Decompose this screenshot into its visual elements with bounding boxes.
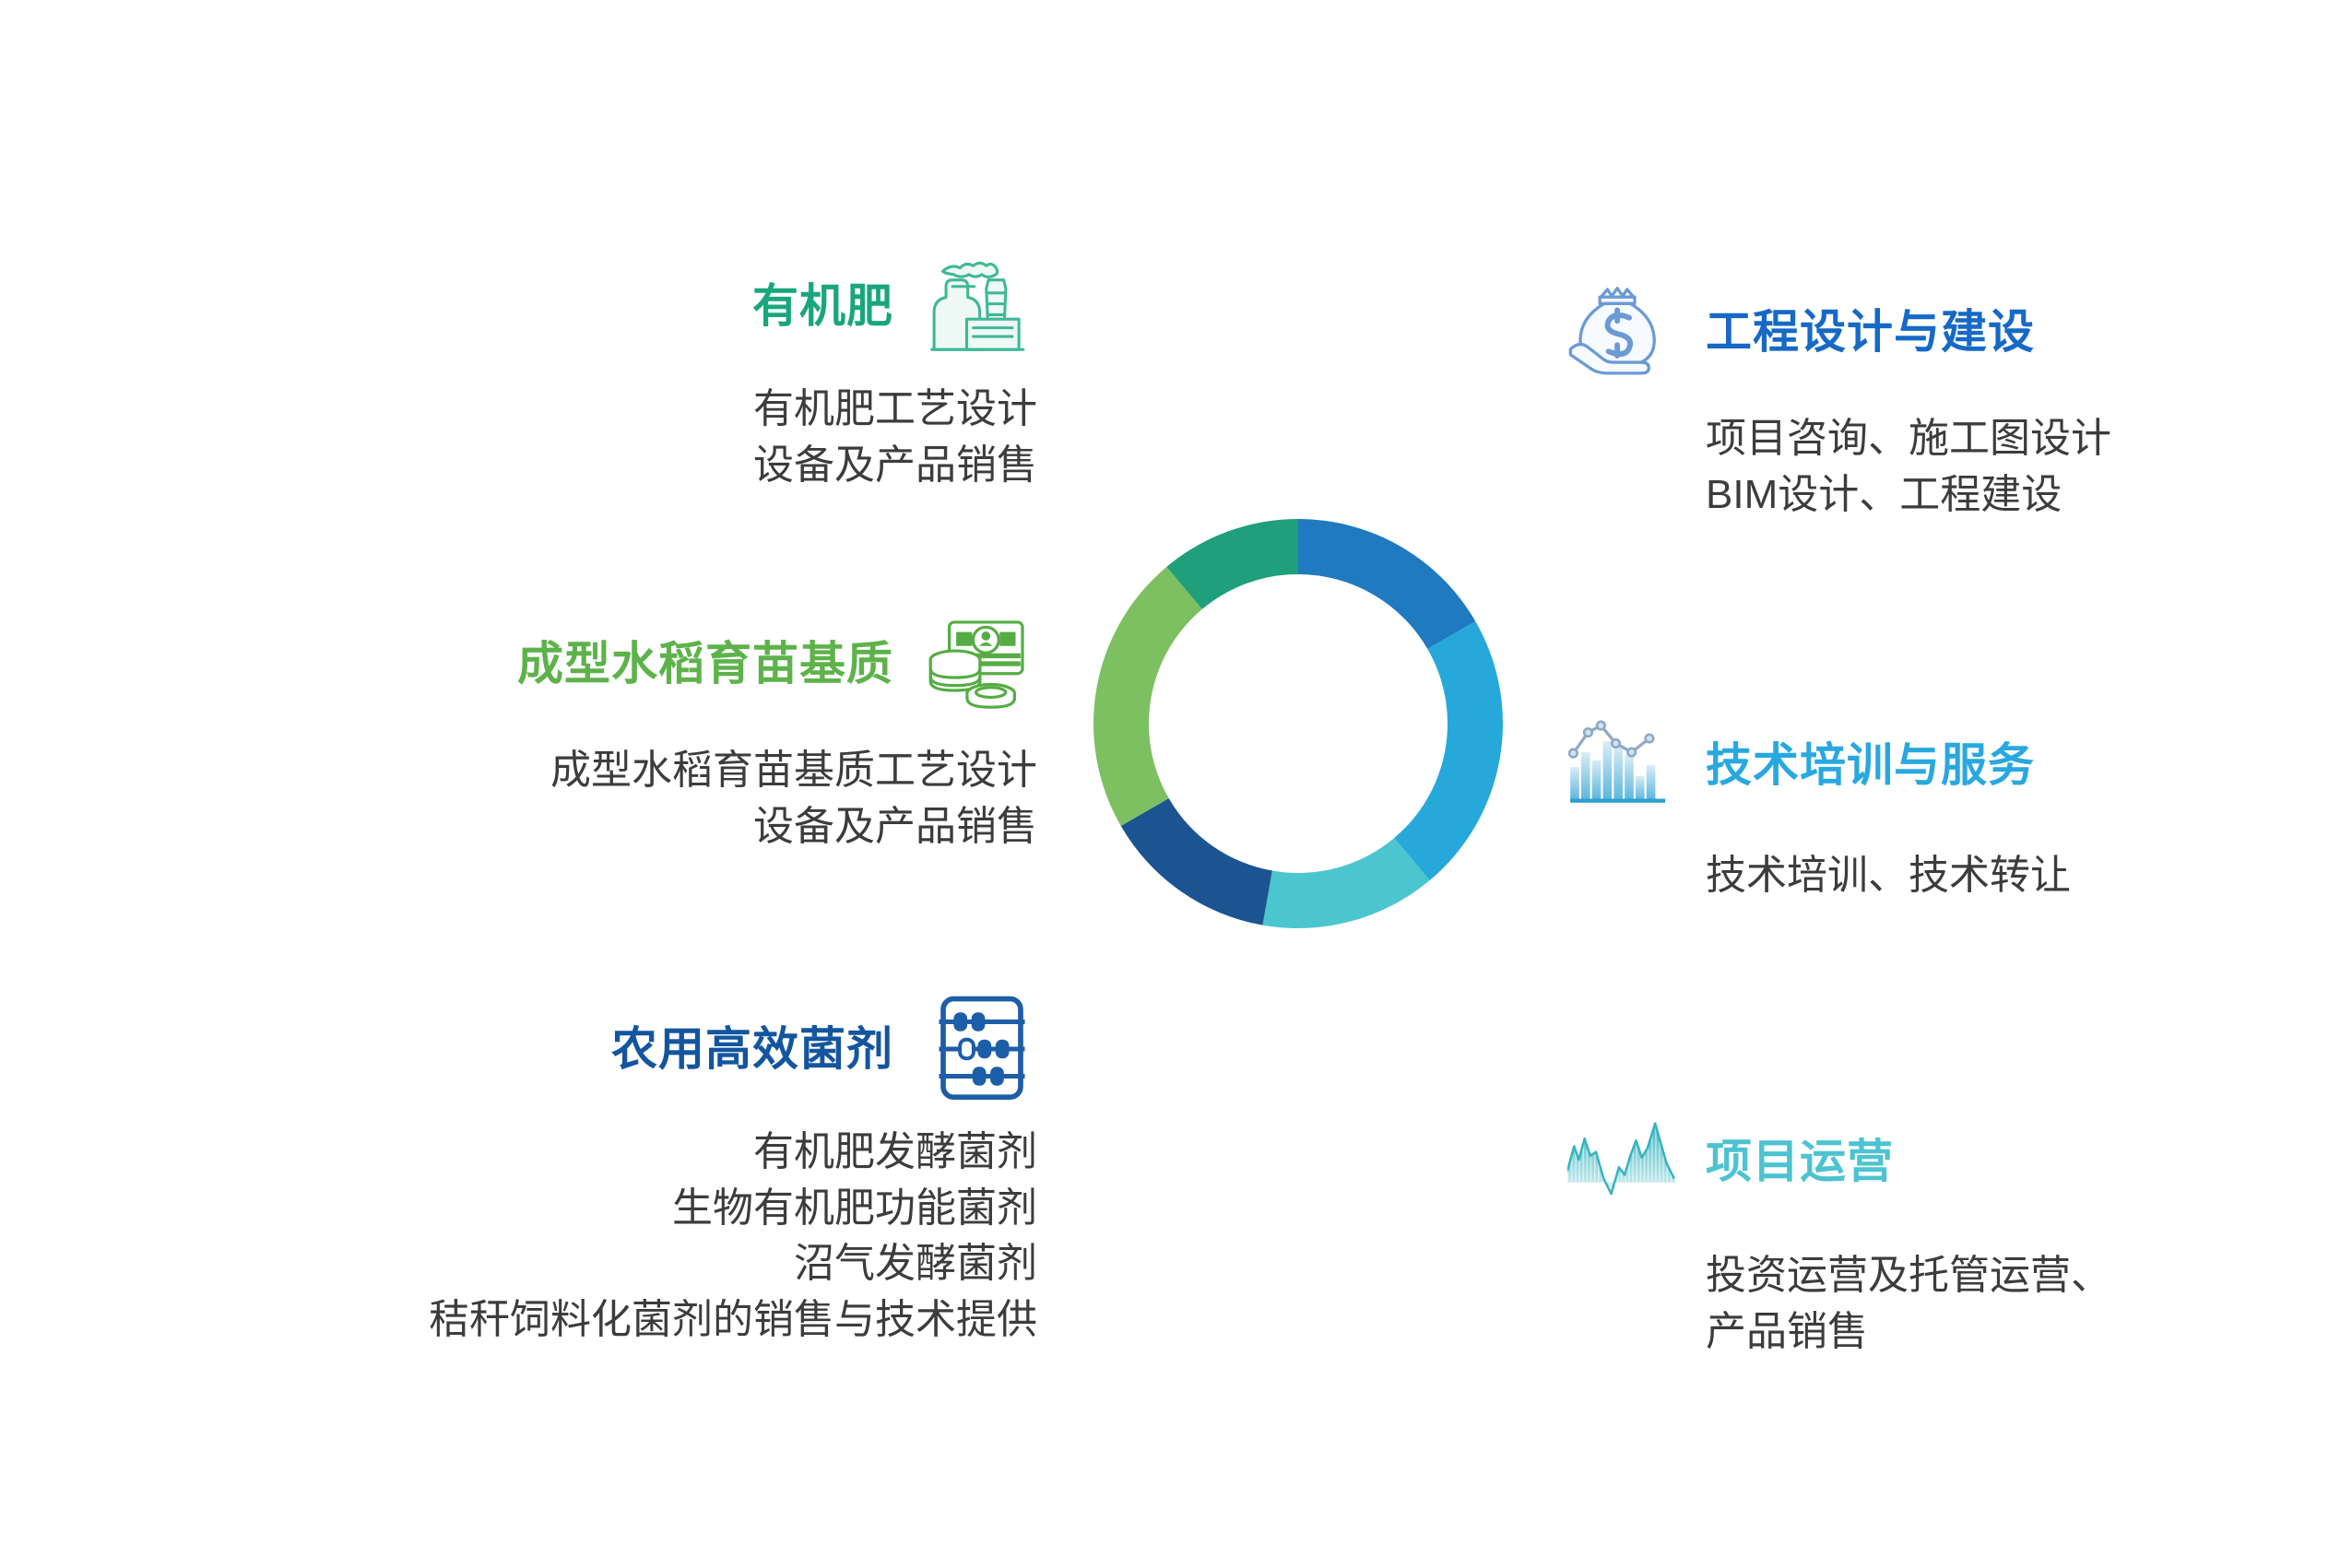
desc-line: 项目咨询、施工图设计: [1706, 411, 2352, 467]
right-item-technical-training-service[interactable]: 技术培训与服务 技术培训、技术转让: [1567, 710, 2352, 904]
item-description: 有机肥工艺设计 设备及产品销售: [0, 382, 1037, 493]
item-header: 农用高效菌剂: [0, 994, 1037, 1104]
item-title: 成型水稻育苗基质: [517, 641, 893, 687]
desc-line: 生物有机肥功能菌剂: [0, 1181, 1037, 1237]
factory-icon: [927, 251, 1037, 361]
item-description: 项目咨询、施工图设计 BIM设计、工程建设: [1706, 411, 2352, 523]
item-description: 有机肥发酵菌剂 生物有机肥功能菌剂 沼气发酵菌剂 秸秆饲料化菌剂的销售与技术提供: [0, 1125, 1037, 1349]
right-item-project-operation[interactable]: 项目运营 投资运营及托管运营、 产品销售: [1567, 1106, 2352, 1360]
donut-segment: [1298, 519, 1475, 649]
item-header: 成型水稻育苗基质: [0, 608, 1037, 719]
left-item-rice-seedling-substrate[interactable]: 成型水稻育苗基质: [0, 608, 1037, 855]
left-item-organic-fertilizer[interactable]: 有机肥 有机肥工艺设计: [0, 251, 1037, 493]
abacus-icon: [927, 994, 1037, 1104]
desc-line: 成型水稻育苗基质工艺设计: [0, 743, 1037, 799]
desc-line: 设备及产品销售: [0, 438, 1037, 494]
item-header: 项目运营: [1567, 1106, 2352, 1217]
money-bag-hand-icon: [1567, 277, 1678, 387]
desc-line: 设备及产品销售: [0, 799, 1037, 855]
item-title: 技术培训与服务: [1706, 742, 2035, 788]
services-donut-chart: [1086, 512, 1510, 936]
item-title: 农用高效菌剂: [611, 1026, 893, 1072]
desc-line: 技术培训、技术转让: [1706, 848, 2352, 904]
donut-svg: [1086, 512, 1510, 936]
desc-line: 有机肥工艺设计: [0, 382, 1037, 438]
item-description: 投资运营及托管运营、 产品销售: [1706, 1248, 2352, 1360]
mountain-area-chart-icon: [1567, 1106, 1678, 1217]
donut-segment: [1093, 567, 1202, 826]
item-description: 成型水稻育苗基质工艺设计 设备及产品销售: [0, 743, 1037, 855]
donut-segment: [1394, 621, 1503, 880]
item-header: 工程设计与建设: [1567, 277, 2352, 387]
donut-segment: [1262, 838, 1429, 928]
left-item-agricultural-microbial-agent[interactable]: 农用高效菌剂: [0, 994, 1037, 1349]
desc-line: 有机肥发酵菌剂: [0, 1125, 1037, 1181]
donut-segments: [1093, 519, 1503, 928]
right-item-engineering-design-construction[interactable]: 工程设计与建设 项目咨询、施工图设计 BIM设计、工程建设: [1567, 277, 2352, 523]
item-title: 工程设计与建设: [1706, 309, 2035, 355]
item-header: 技术培训与服务: [1567, 710, 2352, 820]
desc-line: 产品销售: [1706, 1304, 2352, 1361]
bar-line-chart-icon: [1567, 710, 1678, 820]
item-description: 技术培训、技术转让: [1706, 848, 2352, 904]
item-title: 有机肥: [752, 283, 893, 329]
item-header: 有机肥: [0, 251, 1037, 361]
desc-line: 秸秆饲料化菌剂的销售与技术提供: [0, 1292, 1037, 1349]
desc-line: 投资运营及托管运营、: [1706, 1248, 2352, 1304]
item-title: 项目运营: [1706, 1138, 1894, 1185]
desc-line: BIM设计、工程建设: [1706, 467, 2352, 524]
desc-line: 沼气发酵菌剂: [0, 1236, 1037, 1292]
donut-segment: [1121, 798, 1272, 925]
banknote-coins-icon: [927, 608, 1037, 719]
